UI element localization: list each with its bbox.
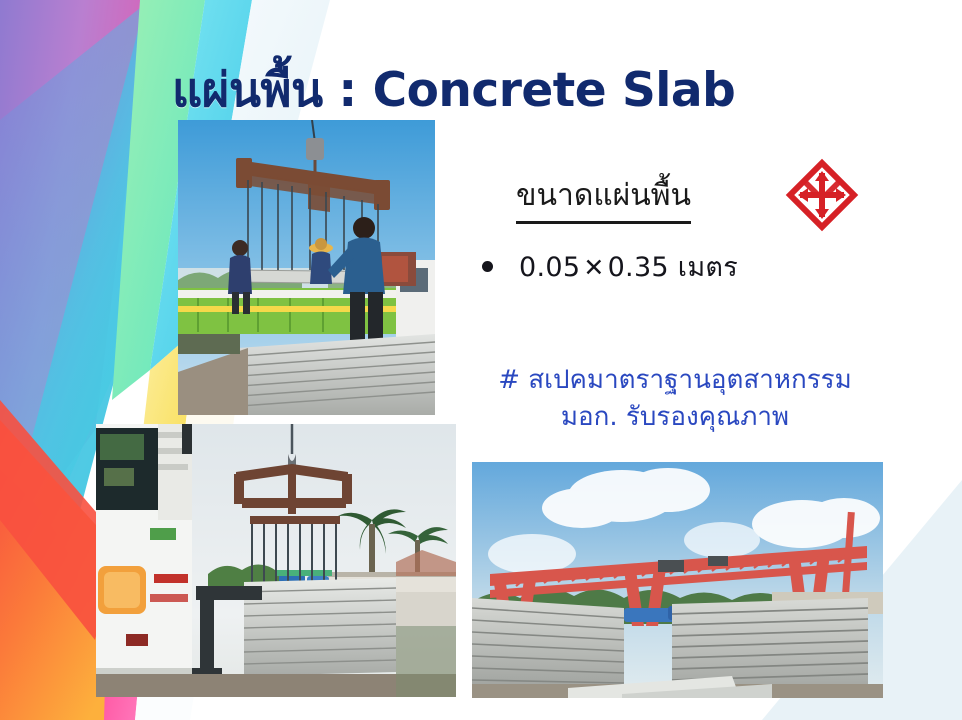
photo-gantry-crane-yard <box>472 462 883 698</box>
slab-size-heading: ขนาดแผ่นพื้น <box>516 172 691 224</box>
photo-crane-loading-slabs <box>178 120 435 415</box>
slab-unit-label: เมตร <box>678 252 738 283</box>
multiply-icon: ✕ <box>580 253 607 282</box>
bullet-dot-icon <box>482 261 493 272</box>
slab-length-value: 0.35 <box>608 252 669 283</box>
spec-line-2: มอก. รับรองคุณภาพ <box>455 399 895 436</box>
tis-certification-icon <box>785 158 859 232</box>
page-title: แผ่นพื้น : Concrete Slab <box>172 52 735 127</box>
industrial-standard-note: # สเปคมาตราฐานอุตสาหกรรม มอก. รับรองคุณภ… <box>455 362 895 436</box>
slab-dimension-bullet: 0.05✕0.35 เมตร <box>482 245 738 288</box>
slab-dimension-text: 0.05✕0.35 เมตร <box>519 245 738 288</box>
slab-width-value: 0.05 <box>519 252 580 283</box>
photo-truck-and-lifting-rig <box>96 424 456 697</box>
spec-line-1: # สเปคมาตราฐานอุตสาหกรรม <box>455 362 895 399</box>
slide-canvas: แผ่นพื้น : Concrete Slab <box>0 0 962 720</box>
